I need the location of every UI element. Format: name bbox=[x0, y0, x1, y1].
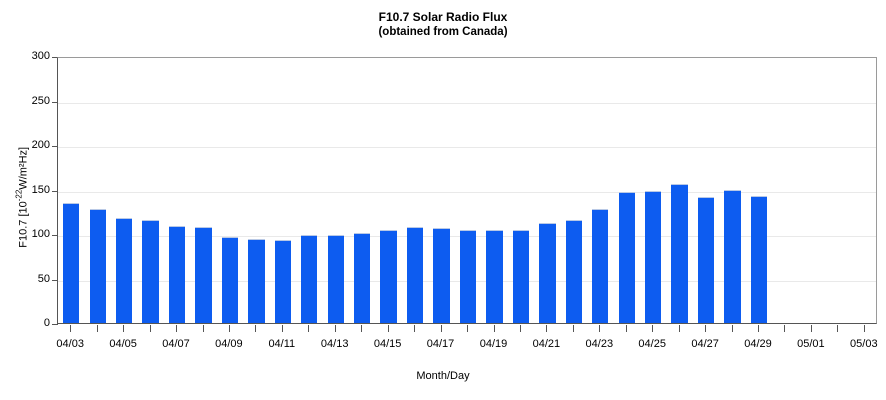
x-tick-mark-04-12 bbox=[308, 325, 309, 332]
x-tick-mark-04-30 bbox=[784, 325, 785, 332]
x-tick-label-04-03: 04/03 bbox=[40, 338, 100, 350]
bar-04-22 bbox=[566, 220, 582, 323]
bar-04-29 bbox=[751, 196, 767, 323]
x-tick-mark-04-09 bbox=[229, 325, 230, 332]
y-tick-label-200: 200 bbox=[4, 140, 50, 151]
x-tick-mark-04-05 bbox=[123, 325, 124, 332]
x-tick-mark-04-11 bbox=[282, 325, 283, 332]
x-tick-label-04-25: 04/25 bbox=[622, 338, 682, 350]
bar-04-17 bbox=[433, 228, 449, 323]
x-tick-label-04-23: 04/23 bbox=[569, 338, 629, 350]
bar-04-19 bbox=[486, 230, 502, 323]
f10-7-solar-flux-chart: F10.7 Solar Radio Flux (obtained from Ca… bbox=[0, 0, 886, 400]
x-tick-label-04-17: 04/17 bbox=[411, 338, 471, 350]
x-tick-mark-04-15 bbox=[388, 325, 389, 332]
bar-04-11 bbox=[275, 240, 291, 323]
plot-area bbox=[57, 57, 877, 324]
bar-04-07 bbox=[169, 226, 185, 323]
x-tick-mark-04-16 bbox=[414, 325, 415, 332]
y-tick-label-100: 100 bbox=[4, 229, 50, 240]
x-tick-mark-04-20 bbox=[520, 325, 521, 332]
y-tick-label-50: 50 bbox=[4, 274, 50, 285]
x-tick-label-04-05: 04/05 bbox=[93, 338, 153, 350]
x-tick-label-04-11: 04/11 bbox=[252, 338, 312, 350]
bar-04-03 bbox=[63, 203, 79, 323]
x-tick-label-05-03: 05/03 bbox=[834, 338, 886, 350]
bar-04-27 bbox=[698, 197, 714, 323]
bar-04-16 bbox=[407, 227, 423, 323]
x-tick-mark-04-04 bbox=[97, 325, 98, 332]
x-tick-mark-04-22 bbox=[573, 325, 574, 332]
x-tick-mark-04-08 bbox=[203, 325, 204, 332]
bar-04-12 bbox=[301, 235, 317, 323]
x-tick-label-04-07: 04/07 bbox=[146, 338, 206, 350]
x-tick-label-04-15: 04/15 bbox=[358, 338, 418, 350]
bar-04-21 bbox=[539, 223, 555, 323]
x-tick-mark-05-02 bbox=[837, 325, 838, 332]
bar-04-08 bbox=[195, 227, 211, 323]
x-tick-label-04-29: 04/29 bbox=[728, 338, 788, 350]
x-tick-label-04-13: 04/13 bbox=[305, 338, 365, 350]
y-tick-label-150: 150 bbox=[4, 185, 50, 196]
x-tick-label-04-09: 04/09 bbox=[199, 338, 259, 350]
x-tick-mark-04-29 bbox=[758, 325, 759, 332]
bar-04-05 bbox=[116, 218, 132, 323]
x-tick-mark-04-26 bbox=[679, 325, 680, 332]
chart-title: F10.7 Solar Radio Flux bbox=[0, 10, 886, 25]
bar-04-24 bbox=[619, 192, 635, 323]
gridline-200 bbox=[58, 147, 876, 148]
bar-04-18 bbox=[460, 230, 476, 323]
x-tick-mark-04-19 bbox=[494, 325, 495, 332]
bar-04-28 bbox=[724, 190, 740, 324]
gridline-250 bbox=[58, 103, 876, 104]
x-tick-label-04-19: 04/19 bbox=[464, 338, 524, 350]
x-tick-mark-04-24 bbox=[626, 325, 627, 332]
x-tick-mark-04-27 bbox=[705, 325, 706, 332]
x-tick-mark-04-28 bbox=[732, 325, 733, 332]
bar-04-09 bbox=[222, 237, 238, 323]
y-tick-label-250: 250 bbox=[4, 96, 50, 107]
y-tick-mark-0 bbox=[52, 324, 58, 325]
x-tick-mark-04-03 bbox=[70, 325, 71, 332]
bar-04-20 bbox=[513, 230, 529, 323]
x-tick-mark-04-17 bbox=[441, 325, 442, 332]
y-tick-label-0: 0 bbox=[4, 318, 50, 329]
bar-04-10 bbox=[248, 239, 264, 323]
chart-subtitle: (obtained from Canada) bbox=[0, 25, 886, 40]
gridline-150 bbox=[58, 192, 876, 193]
bar-04-25 bbox=[645, 191, 661, 323]
bar-04-15 bbox=[380, 230, 396, 323]
bar-04-26 bbox=[671, 184, 687, 323]
x-tick-mark-04-25 bbox=[652, 325, 653, 332]
x-tick-mark-04-07 bbox=[176, 325, 177, 332]
x-tick-mark-04-14 bbox=[361, 325, 362, 332]
x-tick-label-04-27: 04/27 bbox=[675, 338, 735, 350]
x-tick-mark-04-10 bbox=[255, 325, 256, 332]
bar-04-14 bbox=[354, 233, 370, 323]
chart-title-block: F10.7 Solar Radio Flux (obtained from Ca… bbox=[0, 10, 886, 40]
bar-04-23 bbox=[592, 209, 608, 323]
x-tick-mark-04-18 bbox=[467, 325, 468, 332]
x-tick-mark-04-13 bbox=[335, 325, 336, 332]
x-tick-mark-04-23 bbox=[599, 325, 600, 332]
x-tick-mark-04-06 bbox=[150, 325, 151, 332]
x-tick-label-05-01: 05/01 bbox=[781, 338, 841, 350]
x-tick-mark-05-01 bbox=[811, 325, 812, 332]
x-tick-mark-05-03 bbox=[864, 325, 865, 332]
bar-04-04 bbox=[90, 209, 106, 323]
x-tick-label-04-21: 04/21 bbox=[516, 338, 576, 350]
bar-04-13 bbox=[328, 235, 344, 323]
bar-04-06 bbox=[142, 220, 158, 323]
x-tick-mark-04-21 bbox=[546, 325, 547, 332]
y-tick-label-300: 300 bbox=[4, 51, 50, 62]
x-axis-title: Month/Day bbox=[0, 370, 886, 382]
